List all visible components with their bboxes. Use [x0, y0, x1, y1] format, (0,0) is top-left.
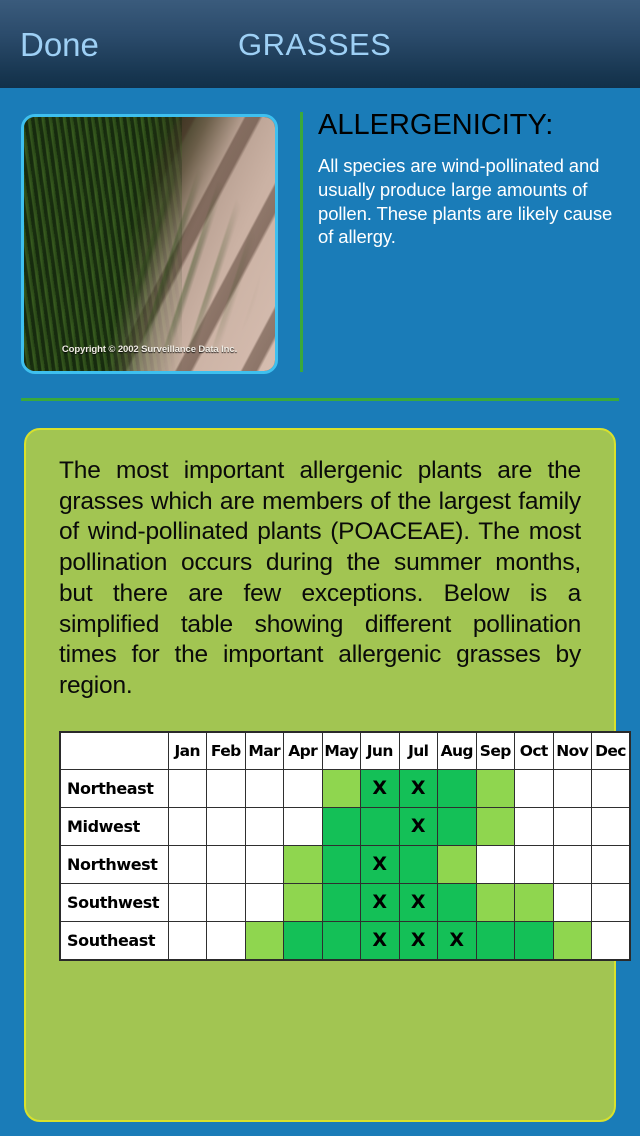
cell-northwest-feb: [207, 846, 246, 884]
cell-northeast-nov: [553, 770, 592, 808]
cell-northwest-nov: [553, 846, 592, 884]
month-header-feb: Feb: [207, 732, 246, 770]
page-title: GRASSES: [238, 29, 391, 60]
peak-marker: X: [372, 853, 387, 875]
cell-northeast-may: [322, 770, 361, 808]
month-header-apr: Apr: [284, 732, 323, 770]
cell-midwest-mar: [245, 808, 284, 846]
photo-copyright-text: Copyright © 2002 Surveillance Data Inc.: [24, 344, 275, 355]
cell-southeast-jan: [168, 922, 207, 960]
table-row: SouthwestXX: [60, 884, 630, 922]
cell-northwest-may: [322, 846, 361, 884]
month-header-jan: Jan: [168, 732, 207, 770]
cell-southwest-apr: [284, 884, 323, 922]
allergenicity-heading: ALLERGENICITY:: [318, 110, 618, 140]
cell-midwest-jun: [361, 808, 400, 846]
done-button[interactable]: Done: [20, 28, 99, 61]
cell-southeast-dec: [592, 922, 631, 960]
cell-northwest-jun: X: [361, 846, 400, 884]
cell-southwest-oct: [515, 884, 554, 922]
table-header-row: JanFebMarAprMayJunJulAugSepOctNovDec: [60, 732, 630, 770]
cell-northeast-jul: X: [399, 770, 438, 808]
peak-marker: X: [411, 815, 426, 837]
table-row: NorthwestX: [60, 846, 630, 884]
peak-marker: X: [372, 929, 387, 951]
cell-midwest-nov: [553, 808, 592, 846]
cell-southeast-jul: X: [399, 922, 438, 960]
cell-midwest-dec: [592, 808, 631, 846]
cell-southeast-nov: [553, 922, 592, 960]
cell-southeast-may: [322, 922, 361, 960]
region-label-southeast: Southeast: [60, 922, 168, 960]
cell-southeast-apr: [284, 922, 323, 960]
peak-marker: X: [372, 777, 387, 799]
cell-southwest-may: [322, 884, 361, 922]
cell-midwest-aug: [438, 808, 477, 846]
navigation-bar: Done GRASSES: [0, 0, 640, 88]
peak-marker: X: [449, 929, 464, 951]
cell-midwest-apr: [284, 808, 323, 846]
region-label-southwest: Southwest: [60, 884, 168, 922]
cell-northwest-dec: [592, 846, 631, 884]
info-panel: The most important allergenic plants are…: [24, 428, 616, 1122]
month-header-dec: Dec: [592, 732, 631, 770]
cell-midwest-jul: X: [399, 808, 438, 846]
cell-northeast-aug: [438, 770, 477, 808]
table-corner-cell: [60, 732, 168, 770]
month-header-sep: Sep: [476, 732, 515, 770]
pollination-table-body: NortheastXXMidwestXNorthwestXSouthwestXX…: [60, 770, 630, 960]
cell-southeast-feb: [207, 922, 246, 960]
cell-northeast-feb: [207, 770, 246, 808]
table-row: MidwestX: [60, 808, 630, 846]
cell-southeast-aug: X: [438, 922, 477, 960]
peak-marker: X: [411, 929, 426, 951]
cell-northeast-sep: [476, 770, 515, 808]
cell-southwest-jul: X: [399, 884, 438, 922]
cell-southwest-nov: [553, 884, 592, 922]
cell-southwest-jan: [168, 884, 207, 922]
plant-photo[interactable]: Copyright © 2002 Surveillance Data Inc.: [21, 114, 278, 374]
cell-southwest-feb: [207, 884, 246, 922]
cell-northwest-oct: [515, 846, 554, 884]
cell-northwest-sep: [476, 846, 515, 884]
cell-northwest-aug: [438, 846, 477, 884]
horizontal-divider: [21, 398, 619, 401]
cell-northeast-apr: [284, 770, 323, 808]
allergenicity-description: All species are wind-pollinated and usua…: [318, 154, 618, 249]
grass-seedhead-layer: [134, 168, 275, 351]
table-row: SoutheastXXX: [60, 922, 630, 960]
region-label-northeast: Northeast: [60, 770, 168, 808]
table-row: NortheastXX: [60, 770, 630, 808]
cell-southwest-sep: [476, 884, 515, 922]
cell-midwest-jan: [168, 808, 207, 846]
cell-northeast-jan: [168, 770, 207, 808]
cell-northwest-jan: [168, 846, 207, 884]
cell-southwest-aug: [438, 884, 477, 922]
cell-northwest-mar: [245, 846, 284, 884]
pollination-table-container: JanFebMarAprMayJunJulAugSepOctNovDec Nor…: [59, 731, 589, 961]
cell-southeast-oct: [515, 922, 554, 960]
cell-midwest-may: [322, 808, 361, 846]
cell-northwest-apr: [284, 846, 323, 884]
cell-northeast-dec: [592, 770, 631, 808]
cell-midwest-oct: [515, 808, 554, 846]
cell-midwest-feb: [207, 808, 246, 846]
month-header-jun: Jun: [361, 732, 400, 770]
month-header-nov: Nov: [553, 732, 592, 770]
cell-southeast-sep: [476, 922, 515, 960]
info-paragraph: The most important allergenic plants are…: [59, 456, 581, 702]
month-header-aug: Aug: [438, 732, 477, 770]
cell-northeast-mar: [245, 770, 284, 808]
pollination-table: JanFebMarAprMayJunJulAugSepOctNovDec Nor…: [59, 731, 631, 961]
cell-southwest-dec: [592, 884, 631, 922]
cell-southwest-mar: [245, 884, 284, 922]
region-label-midwest: Midwest: [60, 808, 168, 846]
month-header-oct: Oct: [515, 732, 554, 770]
peak-marker: X: [411, 891, 426, 913]
cell-northeast-oct: [515, 770, 554, 808]
cell-southeast-jun: X: [361, 922, 400, 960]
cell-northeast-jun: X: [361, 770, 400, 808]
cell-northwest-jul: [399, 846, 438, 884]
cell-midwest-sep: [476, 808, 515, 846]
month-header-mar: Mar: [245, 732, 284, 770]
peak-marker: X: [411, 777, 426, 799]
top-content-section: Copyright © 2002 Surveillance Data Inc. …: [0, 88, 640, 400]
month-header-jul: Jul: [399, 732, 438, 770]
vertical-divider: [300, 112, 303, 372]
peak-marker: X: [372, 891, 387, 913]
region-label-northwest: Northwest: [60, 846, 168, 884]
allergenicity-section: ALLERGENICITY: All species are wind-poll…: [318, 110, 618, 249]
cell-southeast-mar: [245, 922, 284, 960]
month-header-may: May: [322, 732, 361, 770]
cell-southwest-jun: X: [361, 884, 400, 922]
